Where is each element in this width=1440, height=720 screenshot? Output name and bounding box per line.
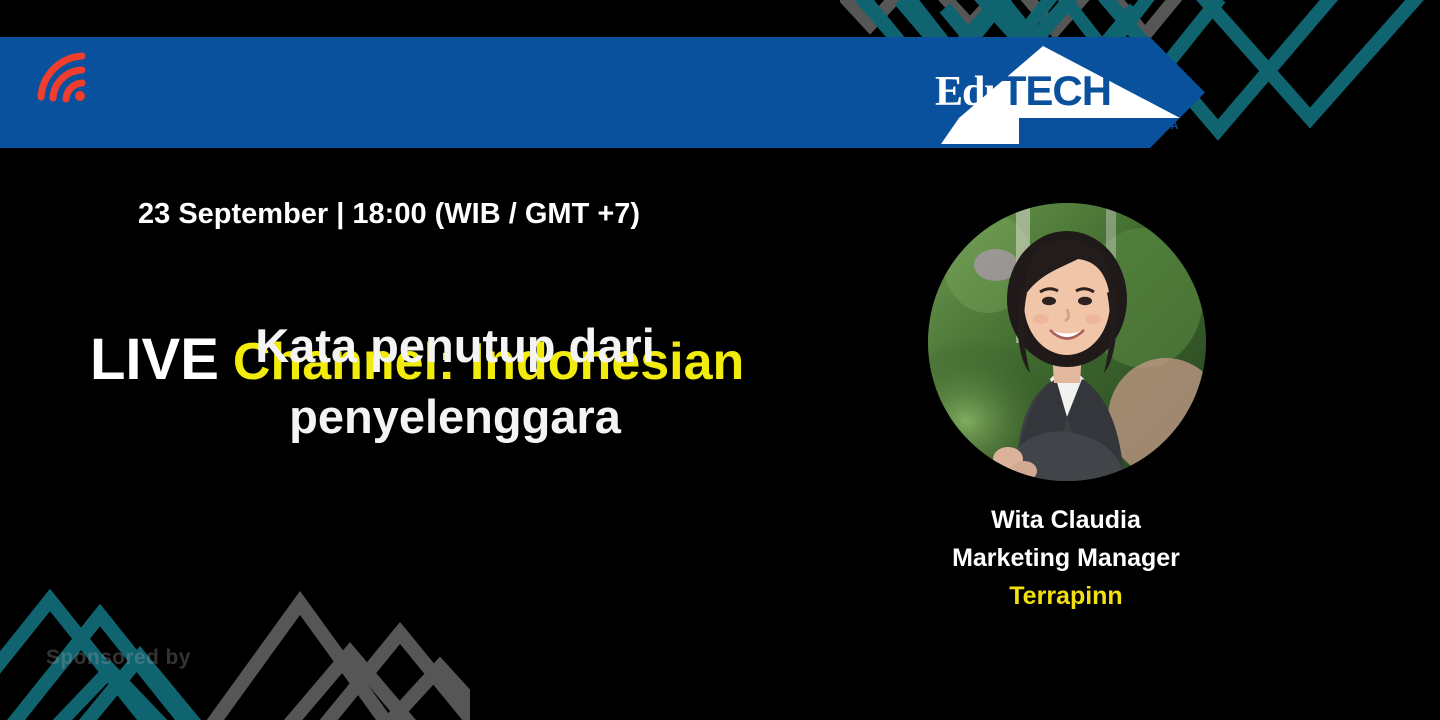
session-title: Kata penutup dari penyelenggara	[60, 310, 850, 453]
broadcast-wifi-icon	[34, 50, 88, 104]
speaker-role: Marketing Manager	[880, 544, 1252, 573]
edutech-tech-text: TECH	[1001, 67, 1111, 114]
session-datetime: 23 September | 18:00 (WIB / GMT +7)	[138, 198, 640, 231]
speaker-name: Wita Claudia	[880, 506, 1252, 535]
edutech-edu-text: Edu	[935, 69, 1007, 115]
speaker-portrait-avatar	[928, 203, 1206, 481]
edutech-wordmark: EduTECH	[935, 70, 1185, 116]
session-title-line-1: Kata penutup dari	[60, 310, 850, 381]
edutech-logo: EduTECH INDONESIA	[935, 44, 1185, 144]
session-title-line-2: penyelenggara	[60, 381, 850, 452]
edutech-country-text: INDONESIA	[1112, 120, 1179, 132]
speaker-company: Terrapinn	[880, 582, 1252, 611]
footer-watermark-text: Sponsored by	[46, 646, 191, 670]
slide-canvas: LIVEChannel: Indonesian EduTECH INDONESI…	[0, 0, 1440, 720]
